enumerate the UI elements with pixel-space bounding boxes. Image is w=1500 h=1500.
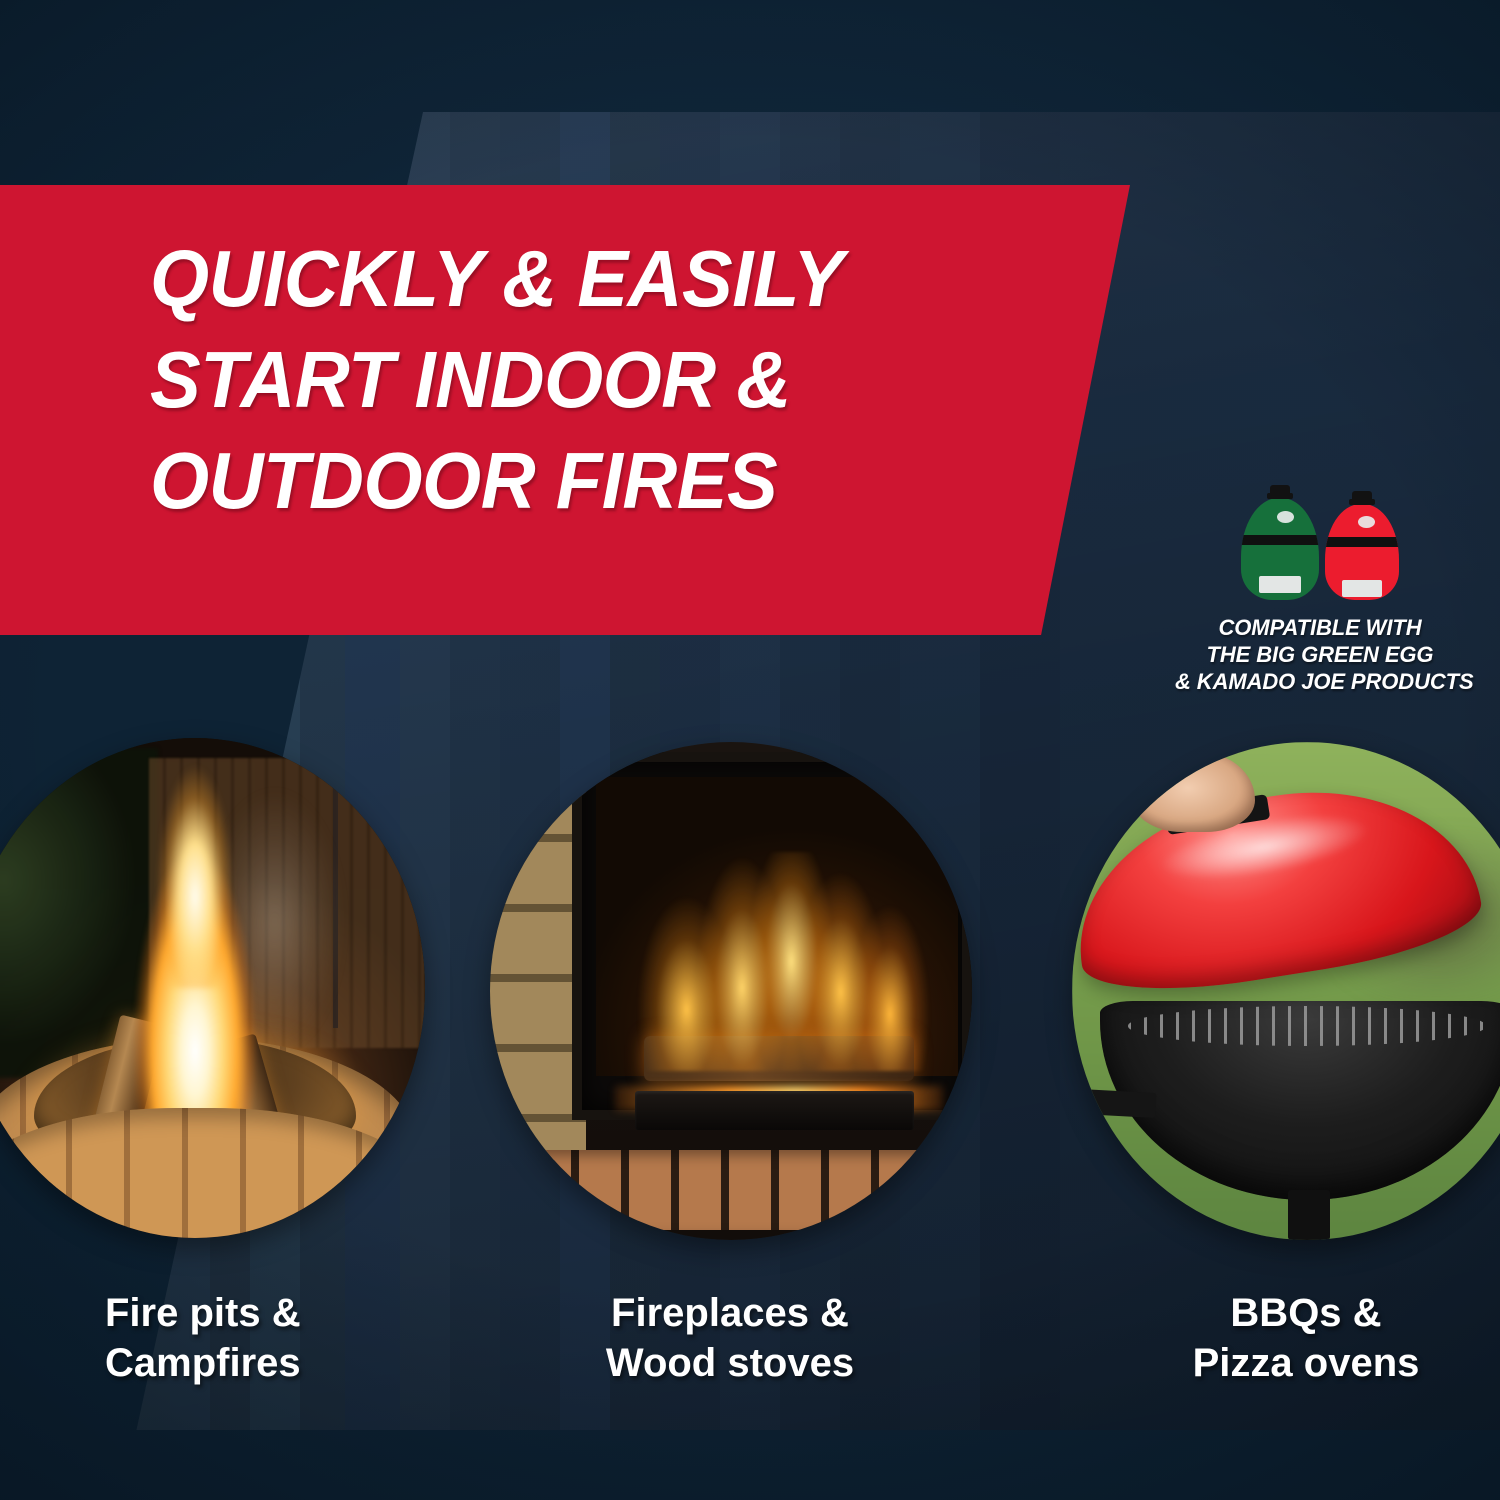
- brick-hearth: [529, 1150, 972, 1230]
- kamado-grill-green-icon: [1241, 485, 1319, 600]
- caption-fire-pits: Fire pits & Campfires: [0, 1288, 465, 1388]
- caption-line-1: Fire pits &: [105, 1288, 465, 1338]
- hand-holding-lid: [1133, 752, 1255, 832]
- headline-line-3: OUTDOOR FIRES: [150, 430, 1005, 531]
- kamado-hinge-band: [1325, 537, 1399, 547]
- kamado-grill-red-icon: [1325, 491, 1399, 600]
- kamado-hinge-band: [1241, 535, 1319, 545]
- kamado-body: [1325, 504, 1399, 600]
- bbq-scene: [1072, 742, 1500, 1240]
- caption-line-1: Fireplaces &: [520, 1288, 940, 1338]
- fire-pit-scene: [0, 738, 425, 1238]
- grill-side-handle: [1081, 1089, 1157, 1118]
- kamado-gauge-icon: [1277, 511, 1294, 523]
- photo-fire-pit: [0, 738, 425, 1238]
- headline-line-2: START INDOOR &: [150, 329, 1005, 430]
- headline-line-1: QUICKLY & EASILY: [150, 228, 1005, 329]
- fireplace-scene: [490, 742, 972, 1240]
- caption-line-2: Campfires: [105, 1338, 465, 1388]
- kamado-icon-row: [1175, 472, 1465, 600]
- compatibility-line-1: COMPATIBLE WITH: [1175, 614, 1465, 641]
- compatibility-caption: COMPATIBLE WITH THE BIG GREEN EGG & KAMA…: [1175, 614, 1465, 695]
- compatibility-line-3: & KAMADO JOE PRODUCTS: [1175, 668, 1465, 695]
- infographic-canvas: QUICKLY & EASILY START INDOOR & OUTDOOR …: [0, 0, 1500, 1500]
- kamado-gauge-icon: [1358, 516, 1375, 528]
- photo-bbq-grill: [1072, 742, 1500, 1240]
- grill-leg: [1288, 1190, 1330, 1240]
- fireplace-air-vent: [635, 1091, 915, 1131]
- caption-fireplaces: Fireplaces & Wood stoves: [520, 1288, 940, 1388]
- compatibility-line-2: THE BIG GREEN EGG: [1175, 641, 1465, 668]
- caption-line-2: Wood stoves: [520, 1338, 940, 1388]
- fireplace-flames: [625, 852, 933, 1071]
- headline: QUICKLY & EASILY START INDOOR & OUTDOOR …: [150, 228, 1005, 531]
- kamado-vent-icon: [1342, 580, 1382, 597]
- kamado-chimney-cap-icon: [1270, 485, 1290, 499]
- caption-line-2: Pizza ovens: [1096, 1338, 1500, 1388]
- caption-bbqs: BBQs & Pizza ovens: [1096, 1288, 1500, 1388]
- compatibility-badge: COMPATIBLE WITH THE BIG GREEN EGG & KAMA…: [1175, 472, 1465, 695]
- caption-line-1: BBQs &: [1096, 1288, 1500, 1338]
- kamado-body: [1241, 498, 1319, 600]
- photo-fireplace: [490, 742, 972, 1240]
- kamado-chimney-cap-icon: [1352, 491, 1372, 505]
- flame-tip: [149, 748, 241, 988]
- kamado-vent-icon: [1259, 576, 1301, 593]
